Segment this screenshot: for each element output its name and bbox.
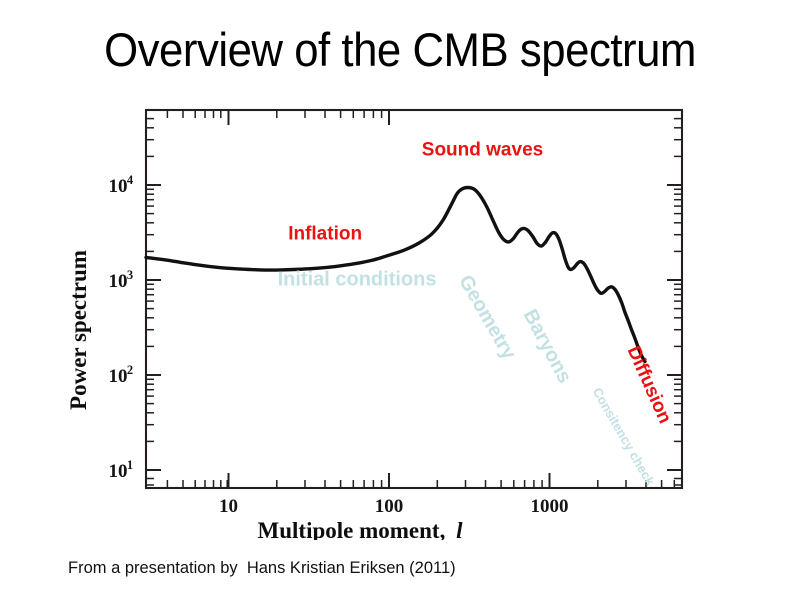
x-axis-ticks bbox=[167, 473, 674, 488]
y-tick-exp-10e2: 2 bbox=[127, 363, 133, 377]
y-tick-label-10e1: 10 bbox=[109, 461, 128, 482]
svg-text:Multipole moment, l: Multipole moment, l bbox=[258, 518, 464, 540]
x-axis-top-ticks bbox=[167, 110, 389, 125]
annotation-diffusion: Diffusion bbox=[623, 343, 676, 427]
source-caption: From a presentation by Hans Kristian Eri… bbox=[68, 558, 456, 578]
y-axis-ticks bbox=[146, 119, 161, 485]
y-tick-exp-10e4: 4 bbox=[127, 173, 134, 187]
page-title: Overview of the CMB spectrum bbox=[28, 22, 772, 78]
y-tick-label-10e2: 10 bbox=[109, 366, 128, 387]
annotation-initial-conditions: Initial conditions bbox=[278, 268, 437, 290]
x-axis-title-text: Multipole moment, bbox=[258, 518, 446, 540]
y-tick-exp-10e1: 1 bbox=[127, 458, 133, 472]
slide-canvas: Overview of the CMB spectrum bbox=[0, 0, 800, 600]
svg-text:Power spectrum: Power spectrum bbox=[66, 250, 91, 410]
x-tick-labels: 10 100 1000 bbox=[219, 496, 569, 517]
y-axis-title: Power spectrum bbox=[66, 250, 91, 410]
annotation-sound-waves: Sound waves bbox=[422, 139, 543, 160]
y-tick-label-10e3: 10 bbox=[109, 271, 128, 292]
y-tick-label-10e4: 10 bbox=[109, 176, 128, 197]
x-tick-label-100: 100 bbox=[375, 496, 404, 517]
annotation-geometry: Geometry bbox=[454, 271, 520, 364]
x-axis-title: Multipole moment, l bbox=[258, 518, 464, 540]
annotation-baryons: Baryons bbox=[519, 306, 576, 387]
y-tick-exp-10e3: 3 bbox=[127, 268, 133, 282]
x-axis-title-symbol: l bbox=[456, 518, 463, 540]
y-axis-right-ticks bbox=[667, 119, 682, 485]
x-tick-label-1000: 1000 bbox=[531, 496, 569, 517]
cmb-spectrum-figure: 10 1 10 2 10 3 10 4 10 100 1000 Power sp… bbox=[60, 100, 720, 540]
annotation-inflation: Inflation bbox=[288, 224, 362, 245]
x-tick-label-10: 10 bbox=[219, 496, 238, 517]
y-tick-labels: 10 1 10 2 10 3 10 4 bbox=[109, 173, 134, 482]
plot-frame bbox=[146, 110, 682, 488]
